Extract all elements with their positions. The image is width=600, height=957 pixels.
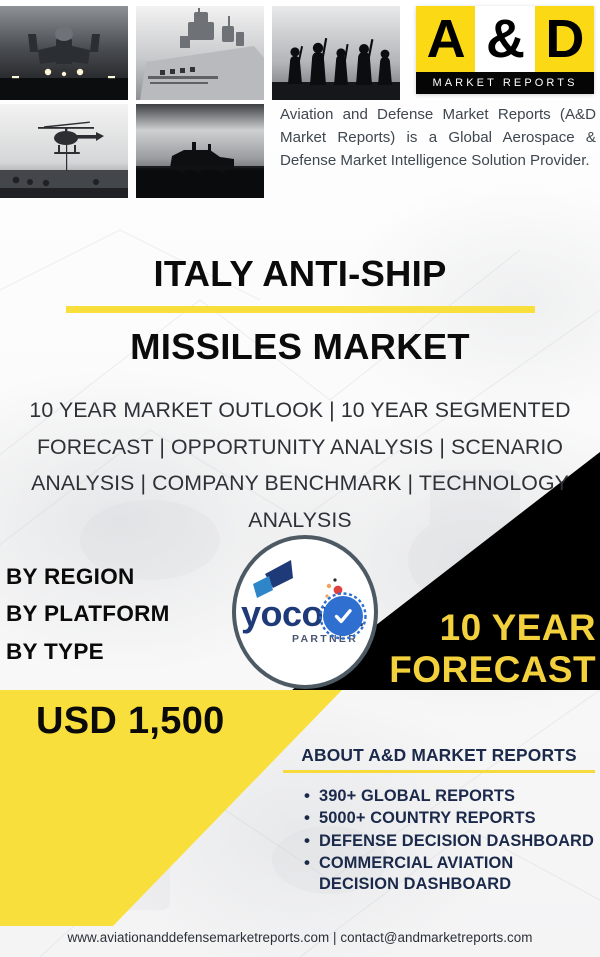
report-title-line-1: ITALY ANTI-SHIP <box>0 252 600 295</box>
logo-letter-a: A <box>416 6 475 72</box>
company-intro-paragraph: Aviation and Defense Market Reports (A&D… <box>280 104 596 173</box>
report-title-line-2: MISSILES MARKET <box>0 325 600 368</box>
about-bullet-commercial-dashboard: COMMERCIAL AVIATION DECISION DASHBOARD <box>319 853 595 896</box>
segmentation-item-region: BY REGION <box>6 558 170 595</box>
about-bullet-global-reports: 390+ GLOBAL REPORTS <box>319 786 595 807</box>
photo-armored-vehicle <box>136 104 264 198</box>
forecast-line-2: FORECAST <box>389 649 596 691</box>
about-bullet-list: 390+ GLOBAL REPORTS 5000+ COUNTRY REPORT… <box>283 786 595 896</box>
about-yellow-rule <box>283 770 595 773</box>
about-heading: ABOUT A&D MARKET REPORTS <box>283 745 595 770</box>
segmentation-item-platform: BY PLATFORM <box>6 595 170 632</box>
forecast-callout: 10 YEAR FORECAST <box>389 607 596 691</box>
logo-letter-d: D <box>535 6 594 72</box>
segmentation-list: BY REGION BY PLATFORM BY TYPE <box>6 558 170 670</box>
photo-soldiers-silhouette <box>272 6 400 100</box>
about-bullet-defense-dashboard: DEFENSE DECISION DASHBOARD <box>319 831 595 852</box>
yocova-partner-badge: yocova PARTNER <box>229 534 381 690</box>
photo-military-helicopter <box>0 104 128 198</box>
and-market-reports-logo[interactable]: A & D MARKET REPORTS <box>416 6 594 94</box>
about-section: ABOUT A&D MARKET REPORTS 390+ GLOBAL REP… <box>283 745 595 897</box>
report-subtitle: 10 YEAR MARKET OUTLOOK | 10 YEAR SEGMENT… <box>14 392 586 539</box>
title-yellow-rule <box>66 306 535 313</box>
forecast-line-1: 10 YEAR <box>389 607 596 649</box>
footer-contact[interactable]: www.aviationanddefensemarketreports.com … <box>0 930 600 945</box>
report-cover-poster: A & D MARKET REPORTS Aviation and Defens… <box>0 0 600 957</box>
price-value: USD 1,500 <box>36 700 225 743</box>
logo-letter-row: A & D <box>416 6 594 72</box>
report-title-block: ITALY ANTI-SHIP MISSILES MARKET <box>0 252 600 368</box>
photo-fighter-jet-on-carrier-deck <box>0 6 128 100</box>
photo-naval-warship <box>136 6 264 100</box>
segmentation-item-type: BY TYPE <box>6 633 170 670</box>
logo-tagline: MARKET REPORTS <box>416 72 594 94</box>
logo-ampersand: & <box>475 6 534 72</box>
about-bullet-country-reports: 5000+ COUNTRY REPORTS <box>319 808 595 829</box>
